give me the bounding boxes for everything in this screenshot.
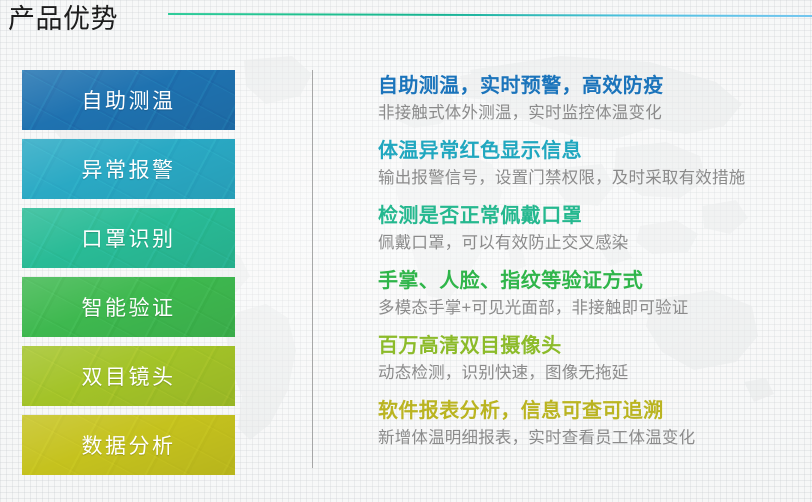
feature-item-report-analysis: 软件报表分析，信息可查可追溯 新增体温明细报表，实时查看员工体温变化 (378, 397, 802, 451)
feature-item-mask-detection: 检测是否正常佩戴口罩 佩戴口罩，可以有效防止交叉感染 (378, 202, 802, 256)
feature-item-abnormal-alarm: 体温异常红色显示信息 输出报警信号，设置门禁权限，及时采取有效措施 (378, 137, 802, 191)
feature-item-smart-verification: 手掌、人脸、指纹等验证方式 多模态手掌+可见光面部，非接触即可验证 (378, 267, 802, 321)
feature-button-label: 智能验证 (82, 292, 176, 322)
feature-description: 非接触式体外测温，实时监控体温变化 (378, 101, 802, 126)
feature-button-label: 双目镜头 (82, 361, 176, 391)
feature-description: 新增体温明细报表，实时查看员工体温变化 (378, 426, 802, 451)
feature-heading: 软件报表分析，信息可查可追溯 (378, 397, 802, 425)
feature-item-binocular-camera: 百万高清双目摄像头 动态检测，识别快速，图像无拖延 (378, 332, 802, 386)
feature-button-smart-verification[interactable]: 智能验证 (22, 277, 235, 337)
feature-description: 动态检测，识别快速，图像无拖延 (378, 361, 802, 386)
feature-description: 佩戴口罩，可以有效防止交叉感染 (378, 231, 802, 256)
page-title: 产品优势 (8, 2, 118, 36)
feature-button-list: 自助测温 异常报警 口罩识别 智能验证 双目镜头 数据分析 (22, 70, 235, 484)
feature-button-label: 自助测温 (82, 85, 176, 115)
feature-heading: 手掌、人脸、指纹等验证方式 (378, 267, 802, 295)
feature-heading: 自助测温，实时预警，高效防疫 (378, 72, 802, 100)
feature-description-list: 自助测温，实时预警，高效防疫 非接触式体外测温，实时监控体温变化 体温异常红色显… (378, 72, 802, 462)
feature-button-label: 数据分析 (82, 430, 176, 460)
page-header: 产品优势 (0, 0, 812, 46)
feature-heading: 百万高清双目摄像头 (378, 332, 802, 360)
feature-heading: 体温异常红色显示信息 (378, 137, 802, 165)
feature-heading: 检测是否正常佩戴口罩 (378, 202, 802, 230)
feature-button-self-temperature[interactable]: 自助测温 (22, 70, 235, 130)
feature-button-label: 口罩识别 (82, 223, 176, 253)
feature-description: 输出报警信号，设置门禁权限，及时采取有效措施 (378, 166, 802, 191)
feature-button-data-analysis[interactable]: 数据分析 (22, 415, 235, 475)
feature-button-abnormal-alarm[interactable]: 异常报警 (22, 139, 235, 199)
feature-button-binocular-lens[interactable]: 双目镜头 (22, 346, 235, 406)
feature-button-label: 异常报警 (82, 154, 176, 184)
column-divider (312, 70, 313, 468)
title-underline-rule (168, 13, 812, 17)
feature-item-self-temperature: 自助测温，实时预警，高效防疫 非接触式体外测温，实时监控体温变化 (378, 72, 802, 126)
feature-button-mask-detection[interactable]: 口罩识别 (22, 208, 235, 268)
feature-description: 多模态手掌+可见光面部，非接触即可验证 (378, 296, 802, 321)
